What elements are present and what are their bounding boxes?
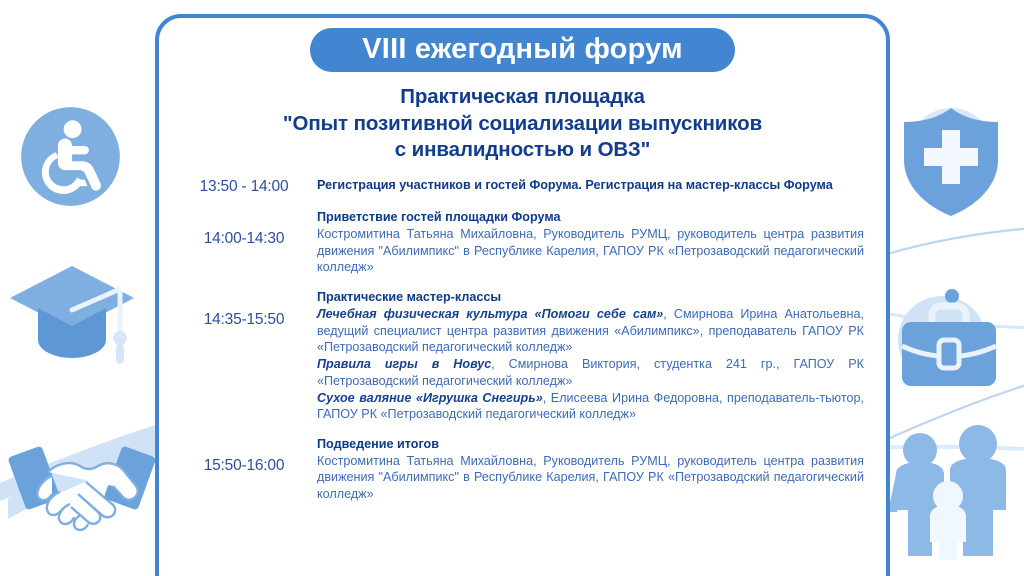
masterclass-title: Лечебная физическая культура «Помоги себ… [317, 307, 663, 321]
program-card: VIII ежегодный форум Практическая площад… [155, 14, 890, 576]
subtitle-line-2: "Опыт позитивной социализации выпускнико… [187, 111, 858, 137]
schedule-time: 15:50-16:00 [183, 436, 305, 475]
schedule-body: Регистрация участников и гостей Форума. … [305, 177, 864, 194]
schedule-body: Приветствие гостей площадки Форума Костр… [305, 209, 864, 276]
schedule-heading: Регистрация участников и гостей Форума. … [317, 177, 864, 194]
schedule-description: Костромитина Татьяна Михайловна, Руковод… [317, 226, 864, 276]
graduation-cap-icon [8, 258, 136, 368]
masterclass-title: Правила игры в Новус [317, 357, 491, 371]
page-subtitle: Практическая площадка "Опыт позитивной с… [187, 84, 858, 163]
schedule-time: 14:35-15:50 [183, 289, 305, 329]
schedule-heading: Приветствие гостей площадки Форума [317, 209, 864, 226]
wheelchair-icon [18, 104, 123, 209]
masterclass-item: Правила игры в Новус, Смирнова Виктория,… [317, 356, 864, 389]
schedule-description: Костромитина Татьяна Михайловна, Руковод… [317, 453, 864, 503]
banner-container: VIII ежегодный форум [159, 28, 886, 72]
forum-title-banner: VIII ежегодный форум [310, 28, 734, 72]
masterclass-title: Сухое валяние «Игрушка Снегирь» [317, 391, 543, 405]
masterclass-item: Лечебная физическая культура «Помоги себ… [317, 306, 864, 356]
subtitle-line-3: с инвалидностью и ОВЗ" [187, 137, 858, 163]
schedule-heading: Подведение итогов [317, 436, 864, 453]
medical-shield-icon [896, 102, 1006, 220]
schedule-list: 13:50 - 14:00 Регистрация участников и г… [183, 177, 864, 503]
slide-canvas: VIII ежегодный форум Практическая площад… [0, 0, 1024, 576]
schedule-heading: Практические мастер-классы [317, 289, 864, 306]
masterclass-item: Сухое валяние «Игрушка Снегирь», Елисеев… [317, 390, 864, 423]
schedule-body: Подведение итогов Костромитина Татьяна М… [305, 436, 864, 503]
schedule-row: 14:00-14:30 Приветствие гостей площадки … [183, 209, 864, 276]
schedule-time: 14:00-14:30 [183, 209, 305, 248]
family-icon [886, 420, 1014, 560]
schedule-time: 13:50 - 14:00 [183, 177, 305, 196]
schedule-row: 14:35-15:50 Практические мастер-классы Л… [183, 289, 864, 423]
subtitle-line-1: Практическая площадка [187, 84, 858, 110]
schedule-body: Практические мастер-классы Лечебная физи… [305, 289, 864, 423]
schedule-row: 13:50 - 14:00 Регистрация участников и г… [183, 177, 864, 196]
schedule-row: 15:50-16:00 Подведение итогов Костромити… [183, 436, 864, 503]
briefcase-icon [890, 282, 1008, 400]
handshake-icon [8, 420, 156, 540]
